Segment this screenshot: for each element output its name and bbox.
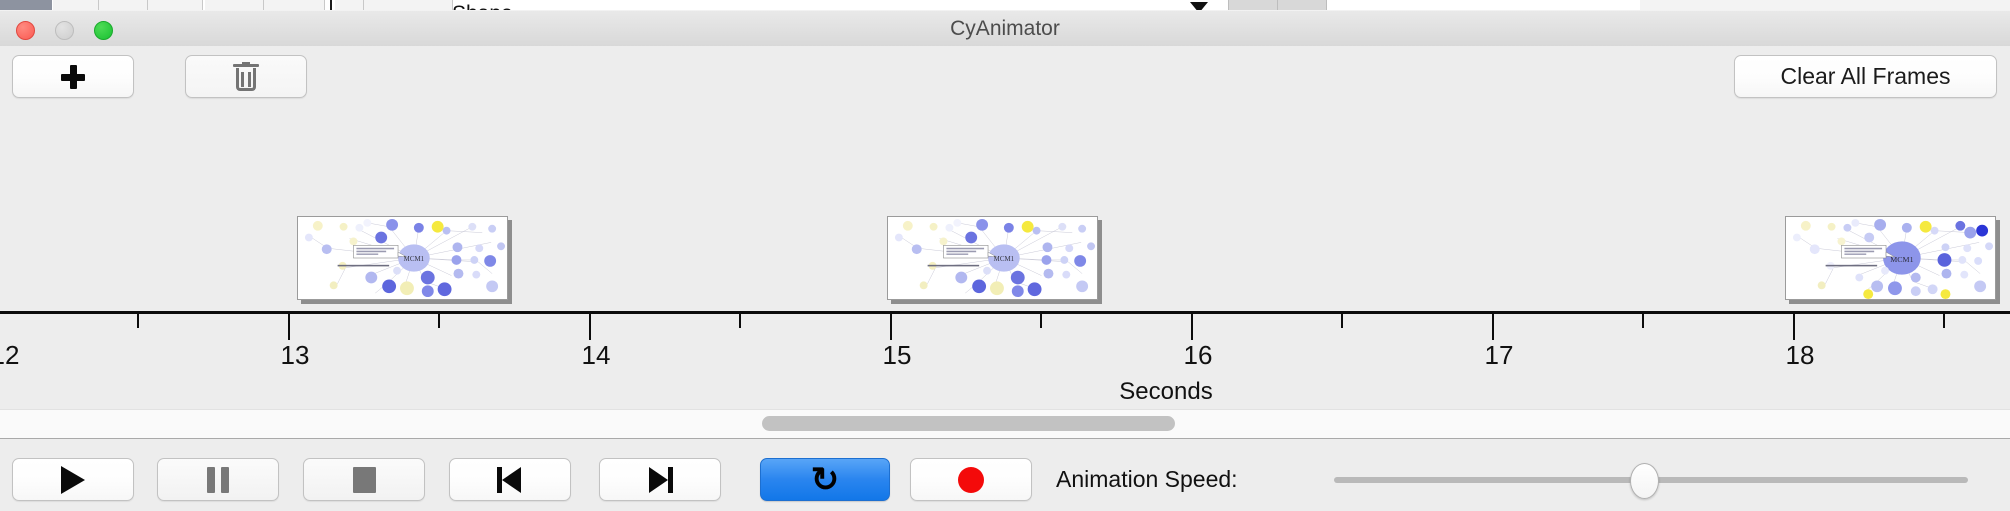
timeline-scrollbar-thumb[interactable] (762, 416, 1175, 431)
axis-major-tick (288, 314, 290, 340)
record-icon (958, 467, 984, 493)
axis-minor-tick (438, 314, 440, 328)
loop-icon: ↻ (811, 463, 840, 497)
network-thumbnail: MCM1 (888, 217, 1097, 299)
play-icon (61, 466, 85, 494)
clear-all-frames-button[interactable]: Clear All Frames (1734, 55, 1997, 98)
slider-knob[interactable] (1630, 463, 1659, 499)
axis-title: Seconds (1119, 378, 1212, 406)
cyanimator-window: Shape CyAnimator Clear All Frames (0, 0, 2010, 510)
network-thumbnail: MCM1 (298, 217, 507, 299)
axis-tick-label: 15 (883, 340, 912, 371)
axis-minor-tick (1642, 314, 1644, 328)
loop-button[interactable]: ↻ (760, 458, 890, 501)
axis-tick-label: 13 (281, 340, 310, 371)
delete-frame-button[interactable] (185, 55, 307, 98)
stop-button[interactable] (303, 458, 425, 501)
svg-text:MCM1: MCM1 (994, 256, 1015, 263)
axis-tick-label: 18 (1786, 340, 1815, 371)
pause-icon (206, 467, 230, 493)
timeline-axis-line (0, 311, 2010, 314)
axis-minor-tick (1341, 314, 1343, 328)
play-button[interactable] (12, 458, 134, 501)
svg-text:MCM1: MCM1 (404, 256, 425, 263)
window-title: CyAnimator (0, 11, 2010, 47)
timeline-scrollbar[interactable] (0, 409, 2010, 439)
axis-tick-label: 17 (1485, 340, 1514, 371)
skip-to-start-button[interactable] (449, 458, 571, 501)
skip-to-end-button[interactable] (599, 458, 721, 501)
add-frame-button[interactable] (12, 55, 134, 98)
axis-major-tick (589, 314, 591, 340)
axis-tick-label: 16 (1184, 340, 1213, 371)
skip-back-icon (497, 467, 523, 493)
timeline-frame-3[interactable]: MCM1 (1785, 216, 1996, 300)
axis-major-tick (1492, 314, 1494, 340)
title-bar: CyAnimator (0, 10, 2010, 48)
pause-button[interactable] (157, 458, 279, 501)
timeline-frame-2[interactable]: MCM1 (887, 216, 1098, 300)
animation-speed-label: Animation Speed: (1056, 458, 1238, 501)
stop-icon (353, 467, 376, 493)
axis-minor-tick (1943, 314, 1945, 328)
timeline-frame-1[interactable]: MCM1 (297, 216, 508, 300)
trash-icon (233, 62, 259, 92)
plus-icon (59, 63, 87, 91)
skip-forward-icon (647, 467, 673, 493)
axis-minor-tick (1040, 314, 1042, 328)
animation-speed-slider[interactable] (1334, 477, 1968, 483)
axis-minor-tick (739, 314, 741, 328)
svg-text:MCM1: MCM1 (1890, 255, 1913, 264)
axis-minor-tick (137, 314, 139, 328)
axis-major-tick (1191, 314, 1193, 340)
record-button[interactable] (910, 458, 1032, 501)
axis-major-tick (1793, 314, 1795, 340)
network-thumbnail: MCM1 (1786, 217, 1995, 299)
axis-tick-label: 14 (582, 340, 611, 371)
axis-major-tick (890, 314, 892, 340)
axis-tick-label: 12 (0, 340, 19, 371)
